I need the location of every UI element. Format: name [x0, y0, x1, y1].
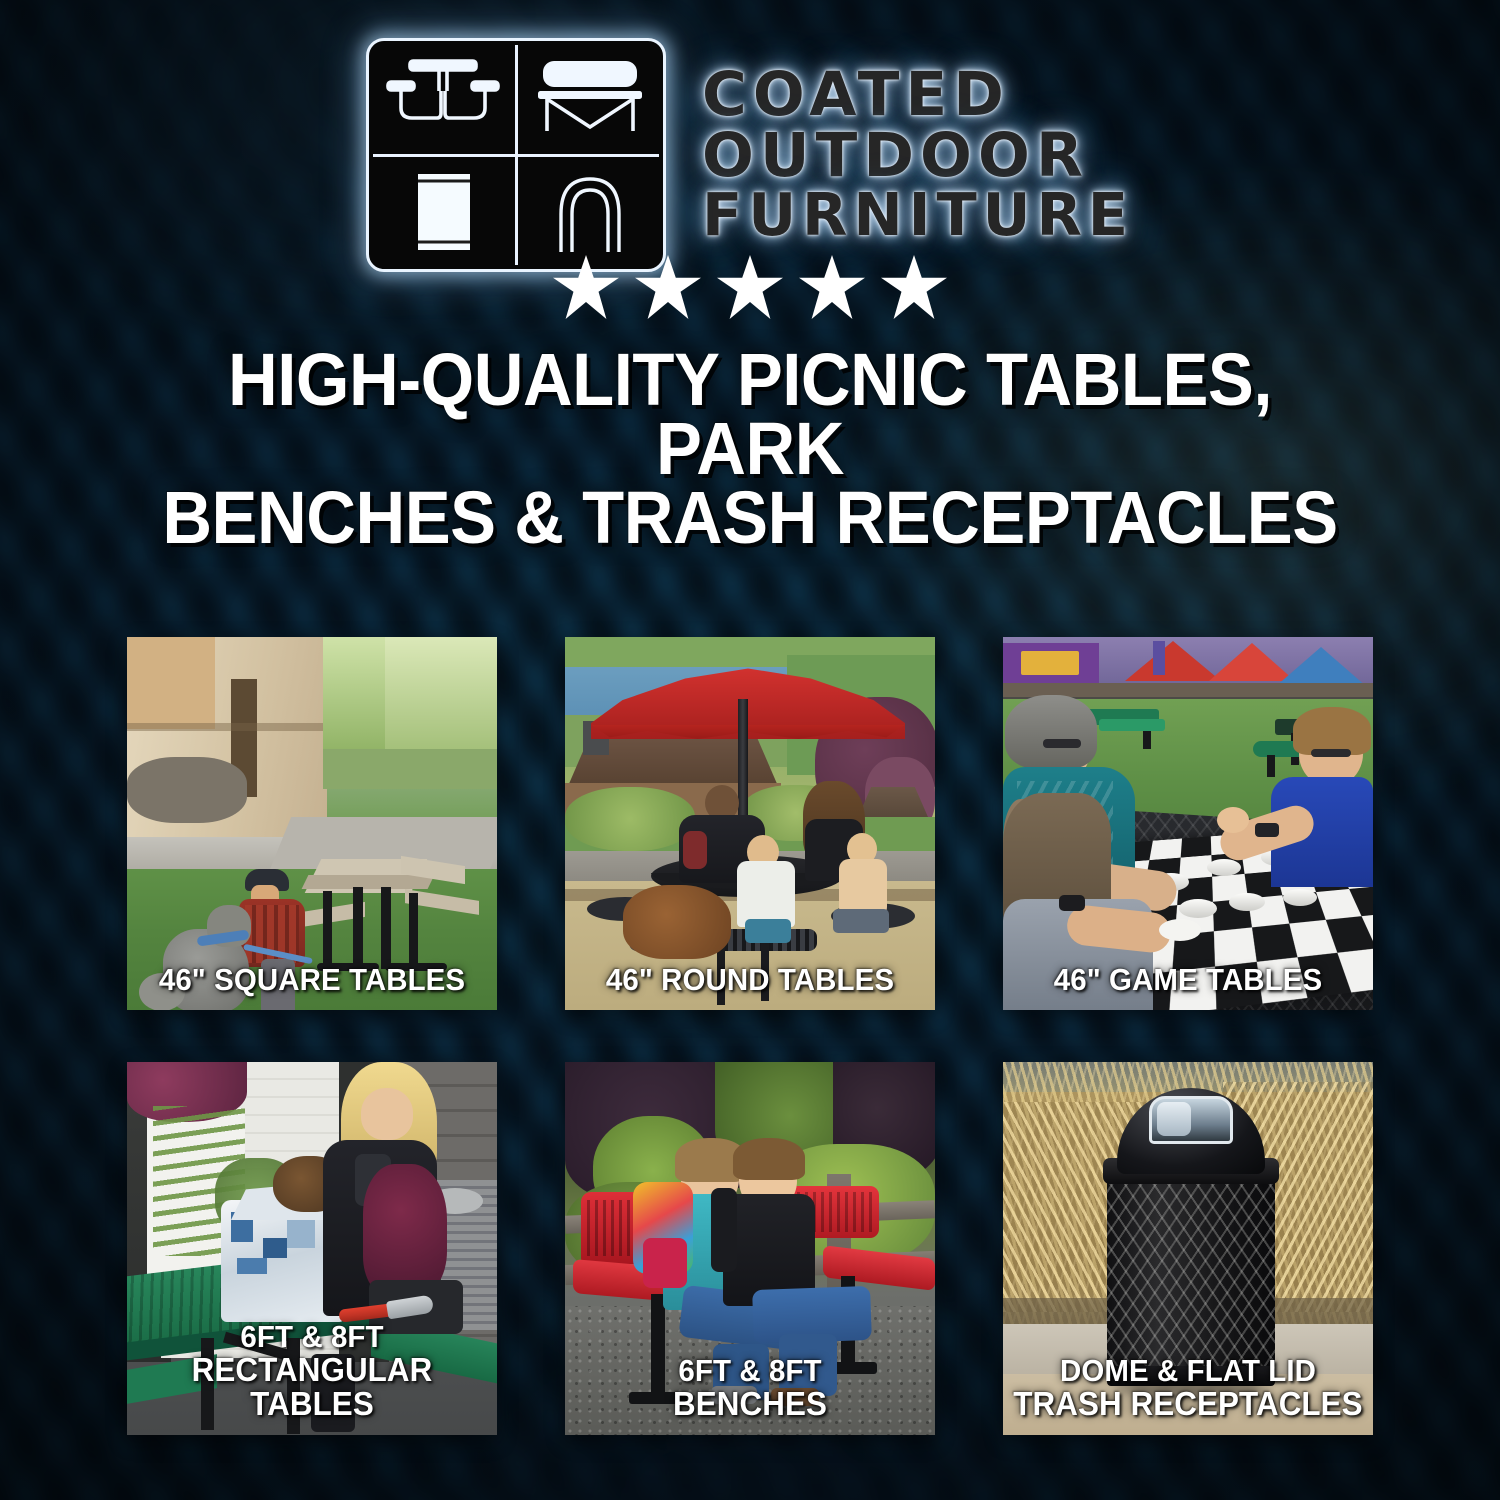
product-caption-line-1: 46" ROUND TABLES	[606, 962, 894, 997]
product-tile-game-tables[interactable]: 46" GAME TABLES	[1003, 637, 1373, 1010]
star-icon	[717, 255, 783, 319]
product-caption-line-1: 6FT & 8FT	[678, 1353, 821, 1388]
product-caption-line-1: 46" GAME TABLES	[1054, 962, 1322, 997]
product-tile-round-tables[interactable]: 46" ROUND TABLES	[565, 637, 935, 1010]
headline-line-2: BENCHES & TRASH RECEPTACLES	[146, 484, 1355, 553]
product-tile-rectangular-tables[interactable]: 6FT & 8FT RECTANGULAR TABLES	[127, 1062, 497, 1435]
picnic-table-icon	[369, 41, 516, 155]
product-grid: 46" SQUARE TABLES	[127, 637, 1373, 1435]
star-icon	[799, 255, 865, 319]
product-tile-trash-receptacles[interactable]: DOME & FLAT LID TRASH RECEPTACLES	[1003, 1062, 1373, 1435]
brand-logo: COATED OUTDOOR FURNITURE	[0, 0, 1500, 246]
product-caption-line-2: TRASH RECEPTACLES	[1012, 1387, 1364, 1421]
product-caption: DOME & FLAT LID TRASH RECEPTACLES	[1012, 1355, 1364, 1421]
star-rating	[0, 252, 1500, 322]
logo-wordmark: COATED OUTDOOR FURNITURE	[702, 66, 1134, 244]
star-icon	[881, 255, 947, 319]
product-caption: 46" SQUARE TABLES	[136, 964, 488, 996]
product-caption: 6FT & 8FT BENCHES	[574, 1355, 926, 1421]
product-photo	[565, 637, 935, 1010]
logo-mark-grid	[366, 38, 666, 272]
product-caption-line-2: BENCHES	[574, 1387, 926, 1421]
promo-poster: COATED OUTDOOR FURNITURE HIGH-QUALITY PI…	[0, 0, 1500, 1500]
product-caption-line-2: RECTANGULAR TABLES	[136, 1353, 488, 1421]
product-caption-line-1: 46" SQUARE TABLES	[159, 962, 465, 997]
product-photo	[1003, 637, 1373, 1010]
product-caption-line-1: DOME & FLAT LID	[1060, 1353, 1316, 1388]
product-tile-square-tables[interactable]: 46" SQUARE TABLES	[127, 637, 497, 1010]
headline-line-1: HIGH-QUALITY PICNIC TABLES, PARK	[228, 338, 1272, 490]
logo-line-2: OUTDOOR	[702, 127, 1134, 186]
product-tile-benches[interactable]: 6FT & 8FT BENCHES	[565, 1062, 935, 1435]
trash-receptacle-icon	[369, 155, 516, 269]
logo-line-1: COATED	[702, 66, 1134, 125]
page-title: HIGH-QUALITY PICNIC TABLES, PARK BENCHES…	[146, 346, 1355, 552]
product-caption: 46" GAME TABLES	[1012, 964, 1364, 996]
product-caption-line-1: 6FT & 8FT	[240, 1319, 383, 1354]
bike-rack-icon	[516, 155, 663, 269]
logo-line-3: FURNITURE	[702, 187, 1134, 244]
product-photo	[127, 637, 497, 1010]
product-caption: 6FT & 8FT RECTANGULAR TABLES	[136, 1321, 488, 1421]
product-caption: 46" ROUND TABLES	[574, 964, 926, 996]
park-bench-icon	[516, 41, 663, 155]
